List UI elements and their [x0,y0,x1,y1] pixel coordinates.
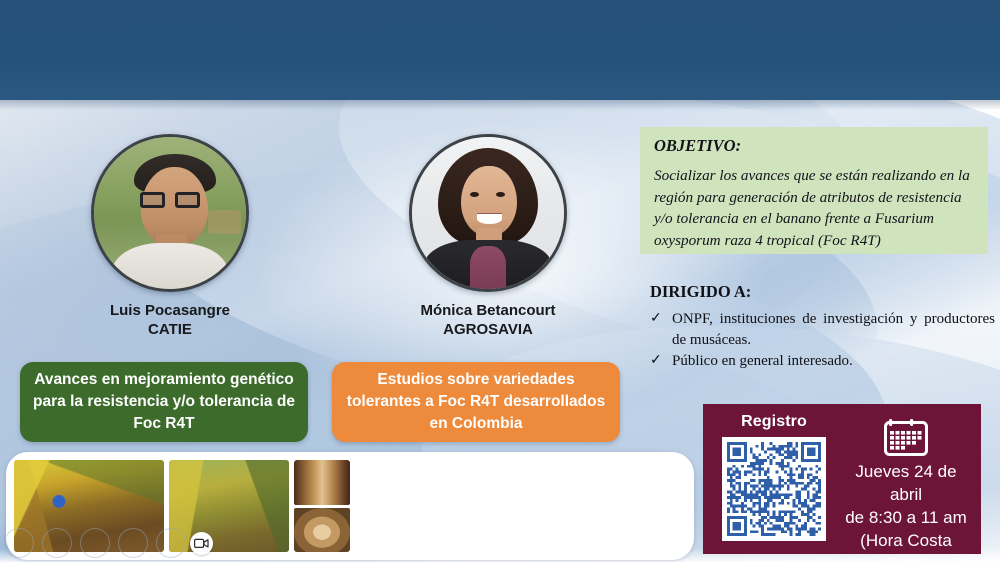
photo-corm-cross-section [294,508,350,553]
poster-canvas: VIDEOCONFERENCIA PARA EL INTERCAMBIO DE … [0,0,1000,562]
audience-list: ✓ ONPF, instituciones de investigación y… [650,309,995,372]
header-banner [0,0,1000,100]
date-line-1: Jueves 24 de abril [841,460,971,506]
objective-body: Socializar los avances que se están real… [654,165,974,251]
speaker-organization: CATIE [82,320,258,339]
photo-banana-field-wilting-plants [169,460,289,552]
speaker-name: Mónica Betancourt [400,301,576,320]
check-icon: ✓ [650,309,663,350]
registration-title: Registro [741,413,807,431]
speaker-card-2: Mónica Betancourt AGROSAVIA [400,134,576,339]
audience-title: DIRIGIDO A: [650,282,995,302]
topic-box-speaker-1: Avances en mejoramiento genético para la… [20,362,308,442]
header-shadow [0,100,1000,110]
date-line-2: de 8:30 a 11 am [841,506,971,529]
photo-cross-sections [294,460,350,552]
speaker-photo-monica-betancourt [409,134,567,292]
decorative-circles [4,528,186,558]
speaker-organization: AGROSAVIA [400,320,576,339]
topic-box-speaker-2: Estudios sobre variedades tolerantes a F… [332,362,620,442]
qr-code[interactable] [722,437,826,541]
objective-title: OBJETIVO: [654,136,974,156]
check-icon: ✓ [650,351,663,372]
objective-box: OBJETIVO: Socializar los avances que se … [640,127,988,254]
list-item: ✓ ONPF, instituciones de investigación y… [650,309,995,350]
audience-item-text: ONPF, instituciones de investigación y p… [672,309,995,350]
video-camera-icon [190,532,213,555]
date-line-3: (Hora Costa Rica) [841,529,971,562]
speaker-photo-luis-pocasangre [91,134,249,292]
photo-pseudostem-cross-section [294,460,350,505]
registration-box: Registro [703,404,981,554]
speaker-name: Luis Pocasangre [82,301,258,320]
speaker-card-1: Luis Pocasangre CATIE [82,134,258,339]
list-item: ✓ Público en general interesado. [650,351,995,372]
event-date: Jueves 24 de abril de 8:30 a 11 am (Hora… [841,460,971,562]
audience-section: DIRIGIDO A: ✓ ONPF, instituciones de inv… [650,282,995,373]
calendar-icon [884,415,928,457]
audience-item-text: Público en general interesado. [672,351,995,372]
